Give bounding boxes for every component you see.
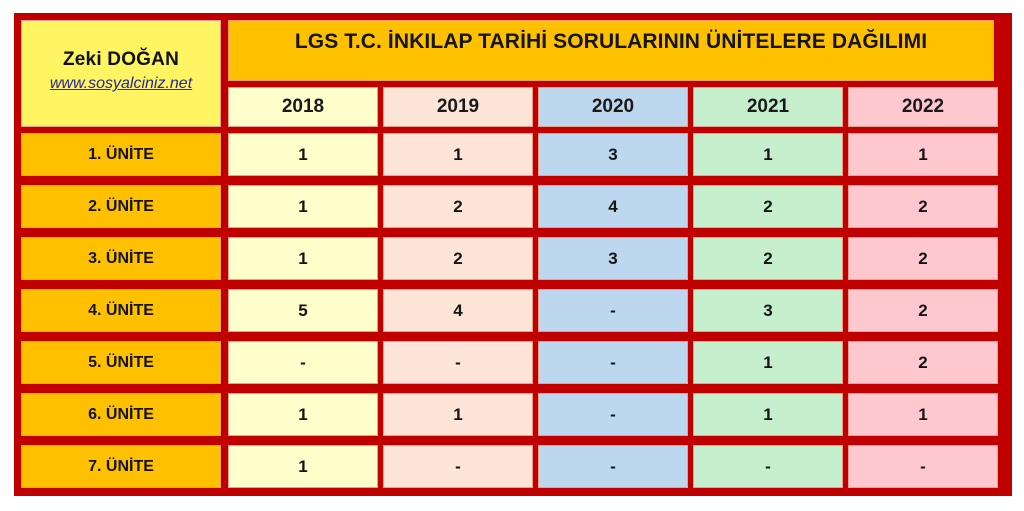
unit-label-5: 5. ÜNİTE [21,341,221,384]
data-cell-u6-2019: 1 [383,393,533,436]
author-name: Zeki DOĞAN [63,50,179,71]
page-title: LGS T.C. İNKILAP TARİHİ SORULARININ ÜNİT… [295,30,927,54]
year-header-2018[interactable]: 2018 [228,87,378,127]
page-root: Zeki DOĞAN www.sosyalciniz.net LGS T.C. … [0,0,1024,511]
data-cell-u3-2022: 2 [848,237,998,280]
data-cell-u6-2018: 1 [228,393,378,436]
data-cell-u4-2020: - [538,289,688,332]
year-header-2019[interactable]: 2019 [383,87,533,127]
data-cell-u7-2021: - [693,445,843,488]
year-header-2022[interactable]: 2022 [848,87,998,127]
unit-label-3: 3. ÜNİTE [21,237,221,280]
data-cell-u7-2019: - [383,445,533,488]
data-cell-u3-2021: 2 [693,237,843,280]
data-cell-u3-2018: 1 [228,237,378,280]
data-cell-u5-2018: - [228,341,378,384]
unit-label-4: 4. ÜNİTE [21,289,221,332]
data-cell-u1-2019: 1 [383,133,533,176]
data-cell-u4-2021: 3 [693,289,843,332]
author-website-link[interactable]: www.sosyalciniz.net [50,75,192,93]
data-cell-u4-2022: 2 [848,289,998,332]
data-cell-u6-2022: 1 [848,393,998,436]
data-cell-u1-2022: 1 [848,133,998,176]
unit-label-1: 1. ÜNİTE [21,133,221,176]
data-cell-u5-2021: 1 [693,341,843,384]
year-header-2021[interactable]: 2021 [693,87,843,127]
data-cell-u2-2020: 4 [538,185,688,228]
data-cell-u7-2018: 1 [228,445,378,488]
unit-label-7: 7. ÜNİTE [21,445,221,488]
data-cell-u3-2019: 2 [383,237,533,280]
unit-label-6: 6. ÜNİTE [21,393,221,436]
data-cell-u2-2019: 2 [383,185,533,228]
data-cell-u5-2022: 2 [848,341,998,384]
data-cell-u6-2021: 1 [693,393,843,436]
data-cell-u7-2020: - [538,445,688,488]
data-cell-u4-2018: 5 [228,289,378,332]
author-cell: Zeki DOĞAN www.sosyalciniz.net [21,20,221,127]
data-cell-u6-2020: - [538,393,688,436]
data-cell-u5-2019: - [383,341,533,384]
data-cell-u2-2018: 1 [228,185,378,228]
data-cell-u1-2020: 3 [538,133,688,176]
data-cell-u7-2022: - [848,445,998,488]
data-cell-u1-2018: 1 [228,133,378,176]
distribution-table: Zeki DOĞAN www.sosyalciniz.net LGS T.C. … [14,13,1012,496]
data-cell-u4-2019: 4 [383,289,533,332]
data-cell-u2-2022: 2 [848,185,998,228]
table-title-banner: LGS T.C. İNKILAP TARİHİ SORULARININ ÜNİT… [228,20,994,81]
unit-label-2: 2. ÜNİTE [21,185,221,228]
year-header-2020[interactable]: 2020 [538,87,688,127]
data-cell-u2-2021: 2 [693,185,843,228]
data-cell-u1-2021: 1 [693,133,843,176]
data-cell-u5-2020: - [538,341,688,384]
data-cell-u3-2020: 3 [538,237,688,280]
